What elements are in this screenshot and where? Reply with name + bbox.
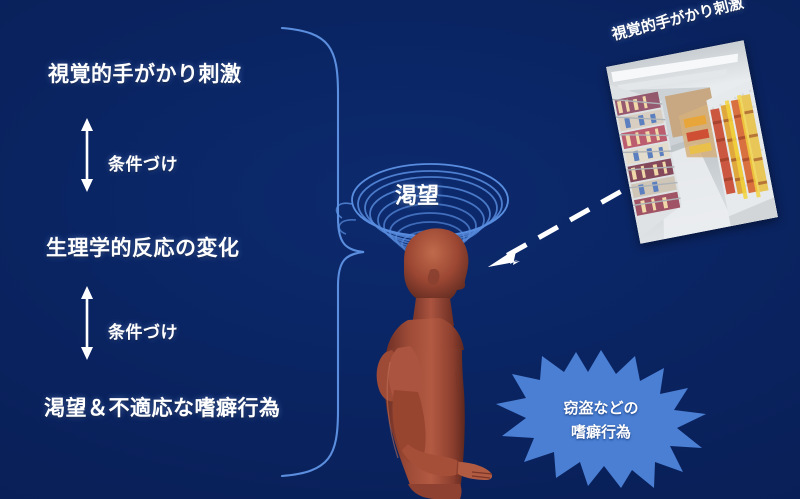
physiological-change-label: 生理学的反応の変化 xyxy=(46,232,240,262)
addictive-behavior-starburst xyxy=(492,348,710,490)
cue-stimulus-label: 視覚的手がかり刺激 xyxy=(48,58,242,88)
craving-and-addictive-behavior-label: 渇望＆不適応な嗜癖行為 xyxy=(44,392,281,422)
craving-label: 渇望 xyxy=(395,178,439,210)
photo-caption: 視覚的手がかり刺激 xyxy=(609,0,800,45)
double-headed-arrow-icon xyxy=(76,286,98,360)
double-headed-arrow-icon xyxy=(76,118,98,192)
slide-canvas: 視覚的手がかり刺激 条件づけ 生理学的反応の変化 条件づけ 渇望＆不適応な嗜癖行… xyxy=(0,0,800,499)
conditioning-label-2: 条件づけ xyxy=(108,318,178,343)
conditioning-label-1: 条件づけ xyxy=(108,150,178,175)
